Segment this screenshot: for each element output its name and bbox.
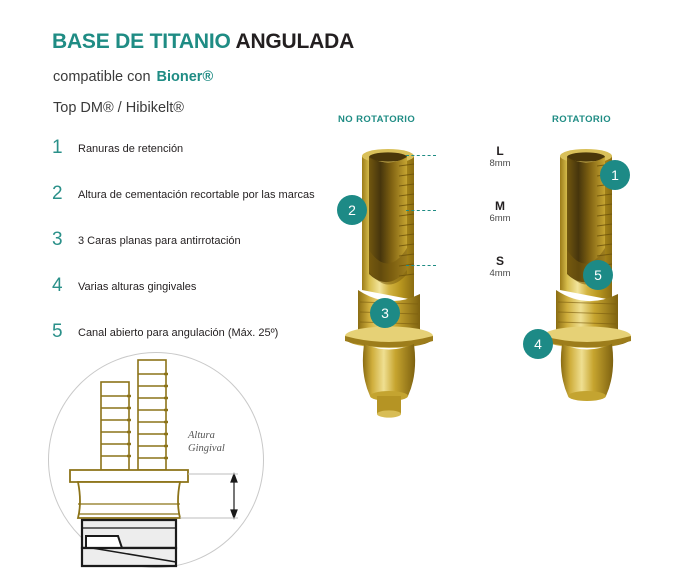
compatibility-prefix: compatible con [53, 69, 151, 85]
callout-badge-5: 5 [583, 260, 613, 290]
gingival-height-inset: Altura Gingival [48, 352, 266, 570]
feature-label: Varias alturas gingivales [78, 278, 340, 295]
column-heading-no-rotatorio: NO ROTATORIO [338, 114, 415, 125]
column-heading-rotatorio: ROTATORIO [552, 114, 611, 125]
list-item: 3 3 Caras planas para antirrotación [50, 232, 340, 256]
list-item: 2 Altura de cementación recortable por l… [50, 186, 340, 210]
callout-badge-4: 4 [523, 329, 553, 359]
leader-line-left-icon [406, 265, 436, 266]
page-title-secondary: ANGULADA [235, 30, 354, 53]
feature-list: 1 Ranuras de retención 2 Altura de cemen… [50, 140, 340, 370]
list-item: 1 Ranuras de retención [50, 140, 340, 164]
callout-badge-2: 2 [337, 195, 367, 225]
feature-label: Canal abierto para angulación (Máx. 25º) [78, 324, 340, 341]
list-item: 5 Canal abierto para angulación (Máx. 25… [50, 324, 340, 348]
feature-label: 3 Caras planas para antirrotación [78, 232, 340, 249]
feature-number: 4 [52, 276, 63, 295]
callout-badge-1: 1 [600, 160, 630, 190]
callout-badge-3: 3 [370, 298, 400, 328]
leader-line-left-icon [406, 155, 436, 156]
page-title: BASE DE TITANIO ANGULADA [52, 30, 354, 54]
gingival-height-line2: Gingival [188, 443, 225, 454]
leader-line-left-icon [406, 210, 436, 211]
feature-number: 2 [52, 184, 63, 203]
feature-number: 3 [52, 230, 63, 249]
implant-illustration-no-rotatorio [336, 142, 456, 422]
gingival-height-line1: Altura [188, 430, 215, 441]
page-title-primary: BASE DE TITANIO [52, 30, 231, 53]
list-item: 4 Varias alturas gingivales [50, 278, 340, 302]
feature-number: 5 [52, 322, 63, 341]
compatibility-line: compatible conBioner® [53, 69, 213, 85]
brand-name: Bioner® [157, 69, 214, 85]
feature-label: Altura de cementación recortable por las… [78, 186, 340, 203]
product-sheet: BASE DE TITANIO ANGULADA compatible conB… [0, 0, 700, 500]
inset-line-drawing [48, 352, 266, 570]
gingival-height-label: Altura Gingival [188, 430, 246, 455]
feature-number: 1 [52, 138, 63, 157]
model-line: Top DM® / Hibikelt® [53, 100, 184, 116]
feature-label: Ranuras de retención [78, 140, 340, 157]
